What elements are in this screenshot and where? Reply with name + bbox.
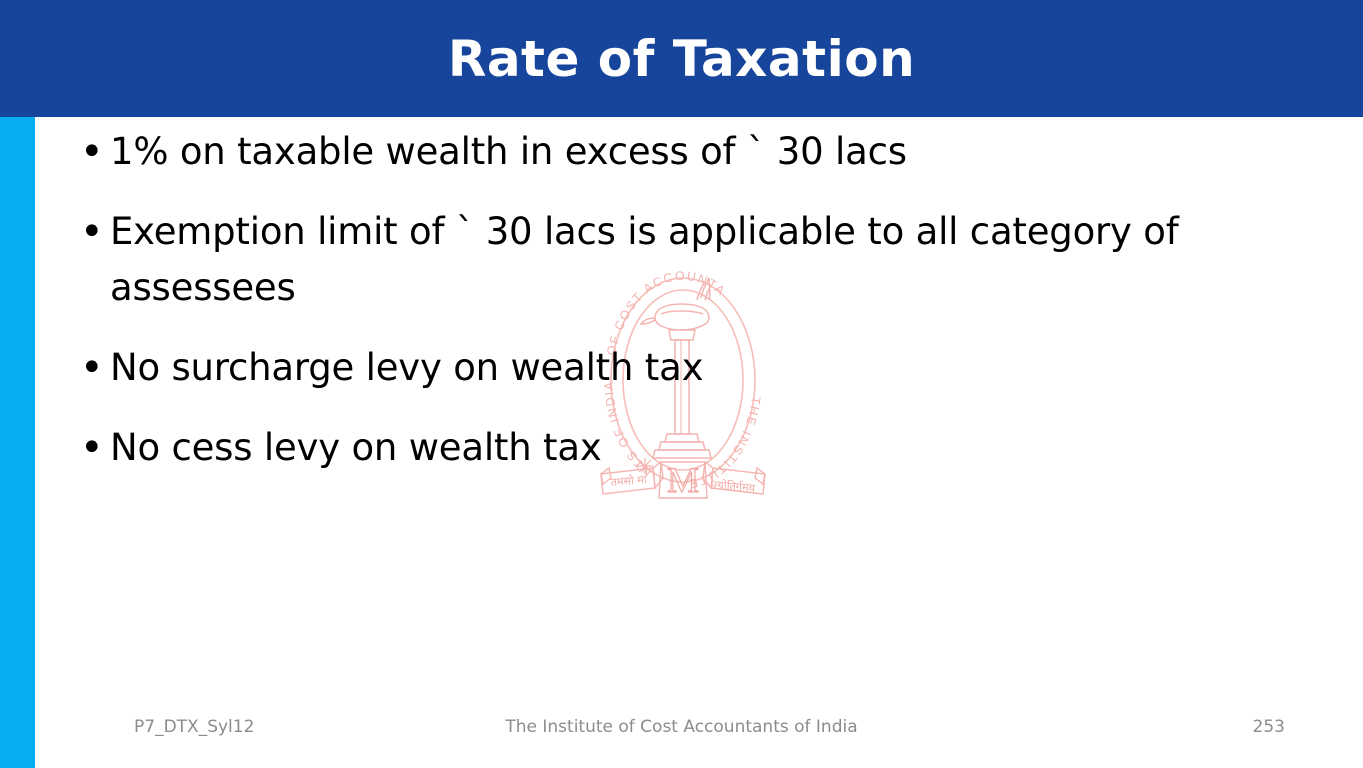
bullet-text: Exemption limit of ` 30 lacs is applicab…: [110, 204, 1290, 316]
slide-footer: P7_DTX_Syl12 The Institute of Cost Accou…: [0, 714, 1363, 754]
list-item: • No cess levy on wealth tax: [70, 420, 1290, 476]
presentation-slide: Rate of Taxation OF COST ACCOUNTA THE IN…: [0, 0, 1363, 768]
left-accent-bar: [0, 117, 35, 768]
slide-title-bar: Rate of Taxation: [0, 0, 1363, 117]
bullet-marker: •: [70, 124, 110, 180]
list-item: • Exemption limit of ` 30 lacs is applic…: [70, 204, 1290, 316]
bullet-text: No cess levy on wealth tax: [110, 420, 1290, 476]
bullet-text: 1% on taxable wealth in excess of ` 30 l…: [110, 124, 1290, 180]
bullet-marker: •: [70, 340, 110, 396]
bullet-marker: •: [70, 420, 110, 476]
slide-body: • 1% on taxable wealth in excess of ` 30…: [70, 124, 1290, 500]
bullet-marker: •: [70, 204, 110, 260]
bullet-text: No surcharge levy on wealth tax: [110, 340, 1290, 396]
footer-page-number: 253: [1253, 714, 1285, 740]
list-item: • 1% on taxable wealth in excess of ` 30…: [70, 124, 1290, 180]
footer-institute-name: The Institute of Cost Accountants of Ind…: [0, 714, 1363, 740]
slide-title: Rate of Taxation: [448, 34, 915, 84]
list-item: • No surcharge levy on wealth tax: [70, 340, 1290, 396]
